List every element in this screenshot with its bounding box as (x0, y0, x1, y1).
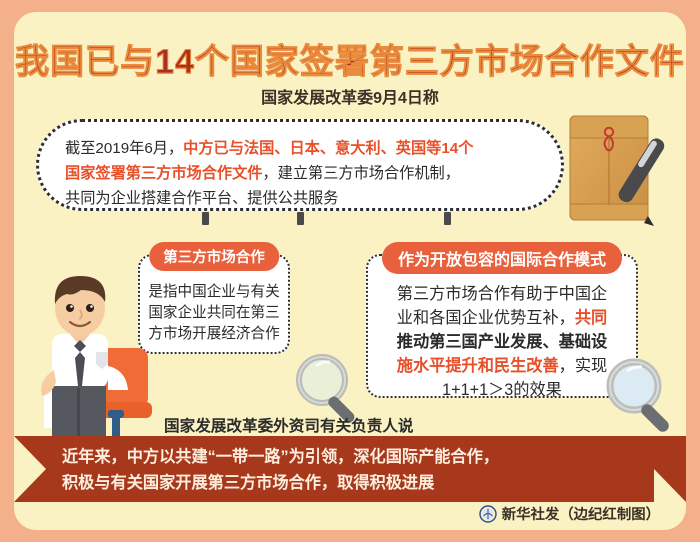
connector-tab-right (444, 212, 451, 225)
model-line-3: 推动第三国产业发展、基础设 (376, 330, 628, 354)
main-box-line-3: 共同为企业搭建合作平台、提供公共服务 (65, 186, 541, 211)
definition-box-title: 第三方市场合作 (149, 242, 279, 271)
summary-ribbon-text: 近年来，中方以共建“一带一路”为引领，深化国际产能合作， 积极与有关国家开展第三… (62, 444, 499, 496)
model-line-4: 施水平提升和民生改善，实现 (376, 354, 628, 378)
definition-line-3: 方市场开展经济合作 (146, 324, 282, 345)
main-box-line2-plain: ，建立第三方市场合作机制， (262, 165, 459, 182)
model-line2-highlight: 共同 (575, 309, 607, 327)
page-subtitle: 国家发展改革委9月4日称 (14, 84, 686, 108)
main-box-line-1: 截至2019年6月，中方已与法国、日本、意大利、英国等14个 (65, 136, 541, 161)
model-line4-highlight: 施水平提升和民生改善 (397, 357, 559, 375)
main-statement-box: 截至2019年6月，中方已与法国、日本、意大利、英国等14个 国家签署第三方市场… (36, 119, 564, 211)
infographic-poster: 我国已与14个国家签署第三方市场合作文件 国家发展改革委9月4日称 (0, 0, 700, 542)
cooperation-model-title: 作为开放包容的国际合作模式 (382, 242, 622, 274)
main-box-line1-highlight: 中方已与法国、日本、意大利、英国等14个 (183, 140, 473, 157)
magnifier-icon-right (602, 354, 680, 438)
model-line4-plain: ，实现 (559, 357, 608, 375)
connector-tab-left (202, 212, 209, 225)
poster-inner-panel: 我国已与14个国家签署第三方市场合作文件 国家发展改革委9月4日称 (14, 12, 686, 530)
main-box-line2-highlight: 国家签署第三方市场合作文件 (65, 165, 262, 182)
connector-tab-middle (297, 212, 304, 225)
summary-ribbon: 近年来，中方以共建“一带一路”为引领，深化国际产能合作， 积极与有关国家开展第三… (14, 436, 686, 502)
ribbon-line-1: 近年来，中方以共建“一带一路”为引领，深化国际产能合作， (62, 444, 499, 470)
ribbon-line-2: 积极与有关国家开展第三方市场合作，取得积极进展 (62, 470, 499, 496)
footer-credit-text: 新华社发（边纪红制图） (502, 503, 660, 524)
model-line2-plain: 业和各国企业优势互补， (397, 309, 575, 327)
model-line-5: 1+1+1＞3的效果 (376, 378, 628, 402)
definition-line-1: 是指中国企业与有关 (146, 282, 282, 303)
xinhua-logo-icon (479, 505, 497, 523)
speaker-attribution: 国家发展改革委外资司有关负责人说 (164, 414, 414, 436)
model-line-2: 业和各国企业优势互补，共同 (376, 306, 628, 330)
model-line-1: 第三方市场合作有助于中国企 (376, 282, 628, 306)
cooperation-model-box: 作为开放包容的国际合作模式 第三方市场合作有助于中国企 业和各国企业优势互补，共… (366, 254, 638, 398)
footer-credit: 新华社发（边纪红制图） (479, 503, 660, 524)
main-box-line-2: 国家签署第三方市场合作文件，建立第三方市场合作机制， (65, 161, 541, 186)
main-box-line1-plain: 截至2019年6月， (65, 140, 183, 157)
envelope-icon (552, 112, 672, 230)
definition-line-2: 国家企业共同在第三 (146, 303, 282, 324)
page-title: 我国已与14个国家签署第三方市场合作文件 (14, 34, 686, 83)
